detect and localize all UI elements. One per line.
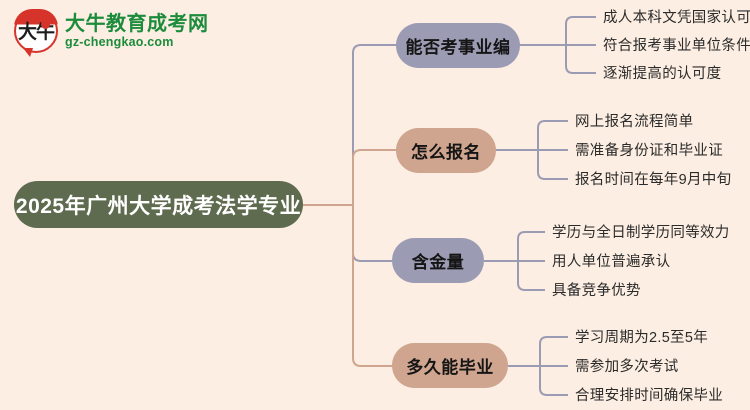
leaf-1-0: 网上报名流程简单 (575, 115, 693, 130)
root-node[interactable]: 2025年广州大学成考法学专业 (14, 181, 303, 228)
connector-trunk-branch-3 (353, 205, 392, 366)
leaf-2-1: 用人单位普遍承认 (552, 255, 670, 270)
branch-node-1[interactable]: 怎么报名 (396, 128, 496, 173)
leaf-1-1: 需准备身份证和毕业证 (575, 144, 723, 159)
connector-branch-3-leaf-2 (540, 366, 568, 395)
connector-branch-0-leaf-2 (566, 45, 596, 73)
leaf-2-0: 学历与全日制学历同等效力 (552, 226, 730, 241)
logo-url: gz-chengkao.com (65, 36, 209, 50)
leaf-3-0: 学习周期为2.5至5年 (575, 331, 708, 346)
connector-branch-3-leaf-0 (540, 337, 568, 366)
logo-dot-icon (41, 20, 50, 29)
connector-branch-0-leaf-0 (566, 17, 596, 45)
leaf-3-1: 需参加多次考试 (575, 360, 679, 375)
connector-trunk-branch-2 (353, 205, 392, 261)
connector-trunk-branch-0 (353, 45, 396, 205)
leaf-1-2: 报名时间在每年9月中旬 (575, 173, 731, 188)
branch-node-3[interactable]: 多久能毕业 (392, 343, 508, 388)
leaf-0-2: 逐渐提高的认可度 (603, 67, 721, 82)
site-logo[interactable]: 大牛 大牛教育成考网 gz-chengkao.com (14, 9, 209, 53)
leaf-0-1: 符合报考事业单位条件 (603, 39, 750, 54)
connector-trunk-branch-1 (353, 150, 396, 205)
logo-bubble-icon: 大牛 (14, 9, 58, 53)
connector-branch-1-leaf-2 (538, 150, 568, 179)
leaf-2-2: 具备竞争优势 (552, 284, 641, 299)
connector-branch-2-leaf-0 (518, 232, 545, 261)
connector-branch-2-leaf-2 (518, 261, 545, 290)
branch-node-2[interactable]: 含金量 (392, 238, 484, 283)
leaf-0-0: 成人本科文凭国家认可 (603, 11, 750, 26)
logo-title: 大牛教育成考网 (65, 13, 209, 35)
connector-branch-1-leaf-0 (538, 121, 568, 150)
mindmap-canvas: 大牛 大牛教育成考网 gz-chengkao.com 2025年广州大学成考法学… (0, 0, 750, 410)
branch-node-0[interactable]: 能否考事业编 (396, 23, 520, 68)
leaf-3-2: 合理安排时间确保毕业 (575, 389, 723, 404)
